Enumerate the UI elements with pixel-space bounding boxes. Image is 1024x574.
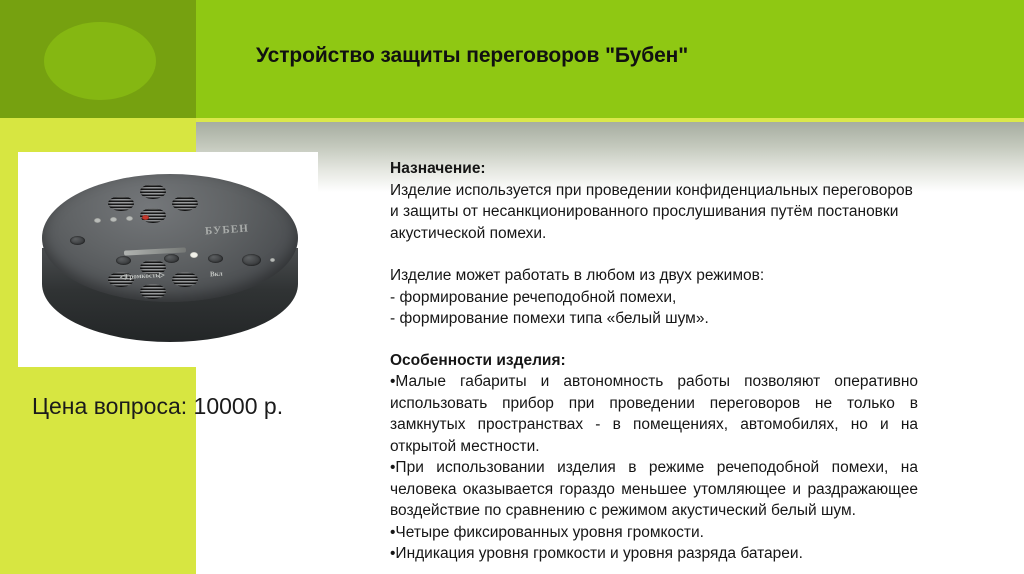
device-volume-label: ◁Громкость▷ xyxy=(120,271,165,281)
device-top-face: БУБЕН ◁Громкость▷ Вкл xyxy=(42,174,298,302)
features-heading: Особенности изделия: xyxy=(390,350,918,372)
slide-root: Устройство защиты переговоров "Бубен" xyxy=(0,0,1024,574)
speaker-grille-icon xyxy=(108,196,134,211)
purpose-paragraph: Изделие используется при проведении конф… xyxy=(390,180,918,245)
device-illustration: БУБЕН ◁Громкость▷ Вкл xyxy=(18,152,318,367)
speaker-grille-icon xyxy=(140,184,166,199)
speaker-grille-icon xyxy=(172,272,198,287)
volume-led-indicator xyxy=(126,216,133,221)
modes-intro: Изделие может работать в любом из двух р… xyxy=(390,265,918,287)
feature-item-size-autonomy: •Малые габариты и автономность работы по… xyxy=(390,371,918,457)
aux-led-indicator xyxy=(270,258,275,262)
aux-button[interactable] xyxy=(242,254,261,266)
paragraph-spacer xyxy=(390,244,918,265)
product-image-panel: БУБЕН ◁Громкость▷ Вкл xyxy=(18,152,318,367)
device-power-label: Вкл xyxy=(210,270,223,279)
purpose-heading: Назначение: xyxy=(390,158,918,180)
speaker-grille-icon xyxy=(172,196,198,211)
volume-right-button[interactable] xyxy=(164,254,179,263)
mode-item-whitenoise: - формирование помехи типа «белый шум». xyxy=(390,308,918,330)
feature-item-volume-levels: •Четыре фиксированных уровня громкости. xyxy=(390,522,918,544)
header-left-accent-block xyxy=(0,0,196,118)
volume-led-indicator xyxy=(94,218,101,223)
page-title: Устройство защиты переговоров "Бубен" xyxy=(256,44,956,68)
volume-down-button[interactable] xyxy=(70,236,85,245)
volume-led-indicator xyxy=(110,217,117,222)
header-band: Устройство защиты переговоров "Бубен" xyxy=(0,0,1024,118)
content-body: Назначение: Изделие используется при про… xyxy=(390,158,918,565)
device-brand-label: БУБЕН xyxy=(205,222,250,237)
section-spacer xyxy=(390,330,918,350)
feature-item-speechlike-comfort: •При использовании изделия в режиме рече… xyxy=(390,457,918,522)
decorative-ellipse xyxy=(44,22,156,100)
mode-item-speechlike: - формирование речеподобной помехи, xyxy=(390,287,918,309)
price-text: Цена вопроса: 10000 р. xyxy=(32,393,283,420)
speaker-grille-icon xyxy=(140,284,166,299)
power-button[interactable] xyxy=(208,254,223,263)
power-led-indicator xyxy=(190,252,198,258)
volume-left-button[interactable] xyxy=(116,256,131,265)
battery-led-indicator xyxy=(142,215,149,220)
feature-item-indication: •Индикация уровня громкости и уровня раз… xyxy=(390,543,918,565)
